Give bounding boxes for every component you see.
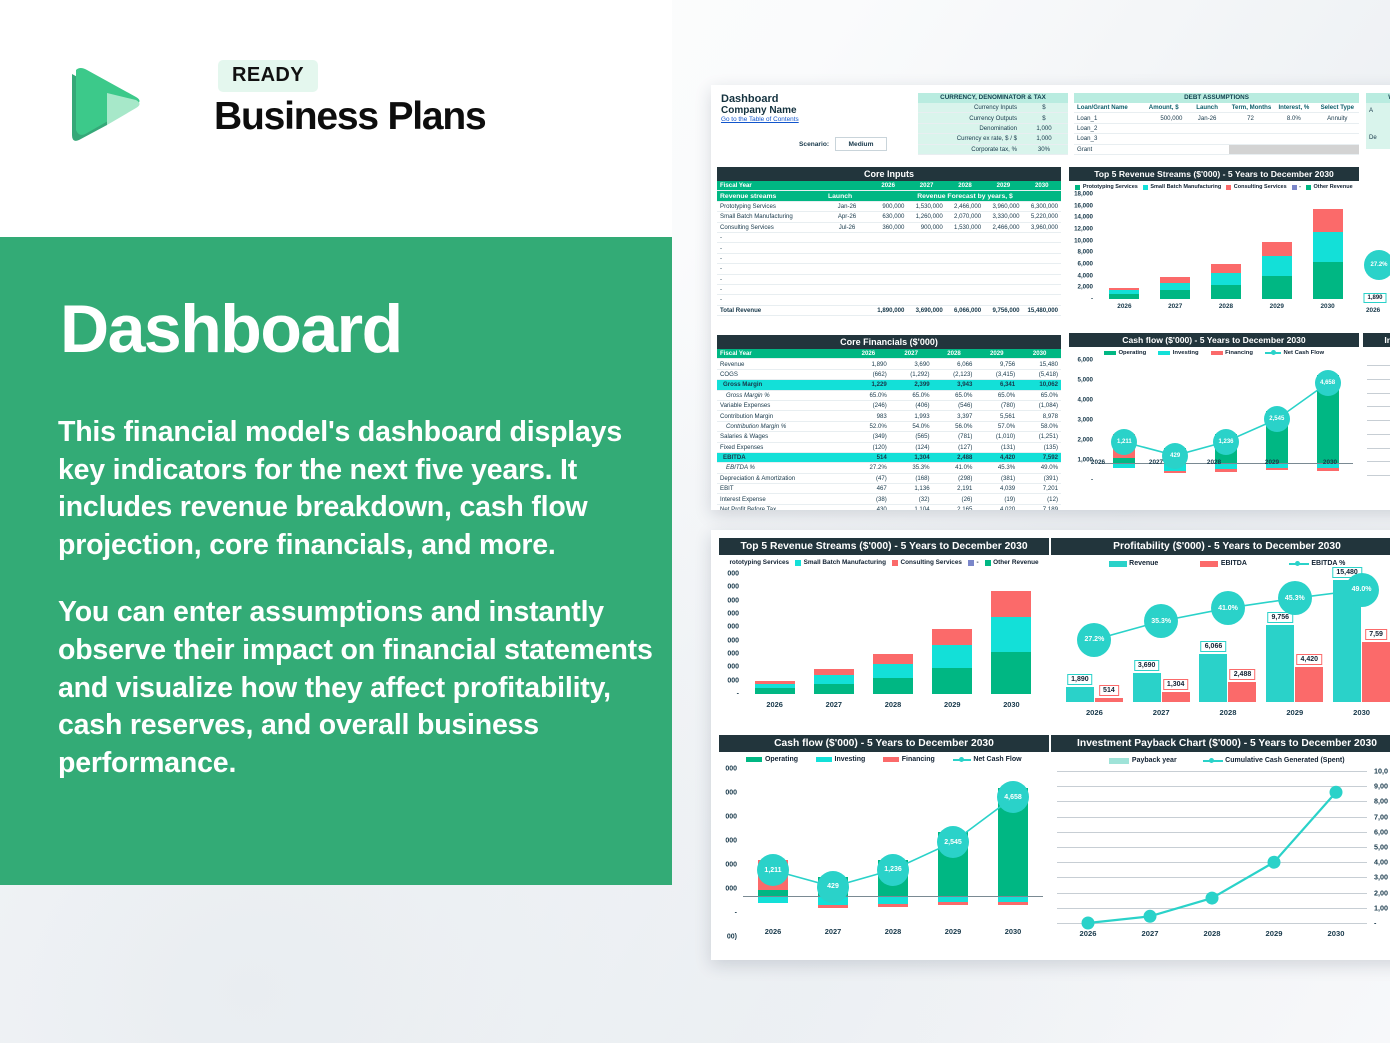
axis-tick-label: 000	[727, 624, 742, 631]
cell-value[interactable]	[869, 264, 907, 274]
cell-value[interactable]	[1023, 284, 1061, 294]
working-block-body: A De	[1366, 103, 1390, 149]
cell-launch[interactable]: Jan-26	[1185, 113, 1228, 123]
gridline	[1367, 475, 1390, 476]
legend-item: rototyping Services	[729, 559, 789, 566]
chart-revenue-streams-top[interactable]: Top 5 Revenue Streams ($'000) - 5 Years …	[1069, 167, 1359, 325]
legend-label: EBITDA %	[1311, 560, 1345, 567]
cell-stream[interactable]: -	[717, 232, 825, 242]
axis-tick-label: 2029	[1251, 303, 1302, 310]
cell-value: (1,251)	[1018, 432, 1061, 442]
chart-x-label: 2026	[1366, 307, 1380, 314]
core-financials-title: Core Financials ($'000)	[717, 335, 1061, 349]
column-header: Fiscal Year	[717, 181, 825, 191]
axis-tick-label: 000	[725, 886, 740, 893]
cell-value: 2,399	[890, 380, 933, 390]
axis-tick-label: 000	[727, 677, 742, 684]
column-header: Term, Months	[1229, 103, 1272, 113]
cell-launch[interactable]	[1185, 123, 1228, 133]
currency-table: Currency Inputs$ Currency Outputs$ Denom…	[918, 103, 1068, 155]
cell-type[interactable]	[1316, 134, 1359, 144]
cell-value[interactable]: 5,220,000	[1023, 212, 1061, 222]
bar-group[interactable]	[923, 574, 982, 694]
bar-group[interactable]	[1302, 194, 1353, 299]
cell-stream[interactable]: -	[717, 243, 825, 253]
cell-value: (19)	[975, 494, 1018, 504]
cell-value[interactable]	[984, 232, 1022, 242]
table-row: Variable Expenses(246)(406)(546)(780)(1,…	[717, 400, 1061, 410]
cell-value[interactable]	[946, 264, 984, 274]
bar-group[interactable]	[1150, 194, 1201, 299]
axis-tick-label: 18,000	[1074, 191, 1096, 198]
cell-value[interactable]	[1023, 253, 1061, 263]
cell-value: 6,341	[975, 380, 1018, 390]
cell-value[interactable]	[869, 274, 907, 284]
gridline	[1367, 379, 1390, 380]
bar-segment	[814, 675, 854, 683]
legend-label: Operating	[765, 756, 798, 763]
cell-value: 1,104	[890, 504, 933, 510]
cell-value[interactable]	[1023, 264, 1061, 274]
cell-value[interactable]	[1023, 274, 1061, 284]
legend-item: EBITDA %	[1289, 560, 1345, 567]
chart-plot-area	[1099, 194, 1353, 299]
legend-label: Other Revenue	[993, 559, 1038, 566]
bar-segment	[814, 684, 854, 694]
cell-launch[interactable]	[825, 295, 869, 305]
cell-stream[interactable]: -	[717, 264, 825, 274]
cell-value[interactable]	[907, 284, 945, 294]
cell-value[interactable]: 3,960,000	[1023, 222, 1061, 232]
cell-value[interactable]	[984, 253, 1022, 263]
cell-value[interactable]: 2,466,000	[946, 201, 984, 211]
cell-value[interactable]: 3,330,000	[984, 212, 1022, 222]
table-row: Interest Expense(38)(32)(26)(19)(12)	[717, 494, 1061, 504]
row-label: EBITDA %	[717, 463, 847, 473]
cell-value[interactable]: 630,000	[869, 212, 907, 222]
bar-group[interactable]	[982, 574, 1041, 694]
cell-value[interactable]: 1,530,000	[946, 222, 984, 232]
cell-value[interactable]	[984, 284, 1022, 294]
cell-launch[interactable]: Jan-26	[825, 201, 869, 211]
cell-value[interactable]	[907, 264, 945, 274]
cell-value: 56.0%	[933, 421, 976, 431]
currency-block-header: CURRENCY, DENOMINATOR & TAX	[918, 93, 1068, 103]
cell-label: Currency Inputs	[918, 103, 1020, 113]
chart-data-label: 1,890	[1363, 293, 1386, 303]
total-value: 15,480,000	[1023, 305, 1061, 315]
chart-data-bubble: 4,658	[1315, 370, 1341, 396]
cell-launch[interactable]: Jul-26	[825, 222, 869, 232]
cell-value[interactable]	[984, 295, 1022, 305]
gridline	[1367, 406, 1390, 407]
axis-tick-label: 2027	[1127, 459, 1185, 466]
cell-value[interactable]: 1,260,000	[907, 212, 945, 222]
axis-tick-label: 000	[727, 597, 742, 604]
cell-launch[interactable]	[1185, 144, 1228, 154]
cell-value[interactable]	[1023, 232, 1061, 242]
table-row: Loan_3	[1074, 134, 1359, 144]
cell-value: (127)	[933, 442, 976, 452]
chart-x-axis: 20262027202820292030	[743, 927, 1043, 936]
bar-group[interactable]	[1251, 194, 1302, 299]
axis-tick-label: 9,00	[1374, 782, 1390, 791]
table-of-contents-link[interactable]: Go to the Table of Contents	[721, 116, 799, 123]
table-row: EBIT4671,1362,1914,0397,201	[717, 484, 1061, 494]
cell-value[interactable]	[946, 295, 984, 305]
cell-amount[interactable]: 500,000	[1142, 113, 1185, 123]
legend-label: Financing	[902, 756, 935, 763]
cell-value: 4,420	[975, 452, 1018, 462]
legend-item: Investing	[1158, 350, 1198, 356]
cell-stream[interactable]: Prototyping Services	[717, 201, 825, 211]
chart-y-axis: 10,09,008,007,006,005,004,003,002,001,00…	[1371, 771, 1390, 923]
bar-group[interactable]	[745, 574, 804, 694]
cell-stream[interactable]: Small Batch Manufacturing	[717, 212, 825, 222]
cell-value: (2,123)	[933, 369, 976, 379]
cell-value: (120)	[847, 442, 890, 452]
axis-tick-label: 2030	[983, 927, 1043, 936]
dashboard-screenshot-bottom[interactable]: Top 5 Revenue Streams ($'000) - 5 Years …	[711, 530, 1390, 960]
bar-group[interactable]	[1201, 194, 1252, 299]
cell-type[interactable]	[1316, 123, 1359, 133]
cell-interest[interactable]	[1272, 134, 1315, 144]
table-row: -	[717, 243, 1061, 253]
total-value: 1,890,000	[869, 305, 907, 315]
cell-amount[interactable]	[1142, 134, 1185, 144]
cell-value[interactable]	[946, 232, 984, 242]
cell-value[interactable]	[869, 284, 907, 294]
chart-title: Cash flow ($'000) - 5 Years to December …	[1069, 333, 1359, 347]
chart-data-bubble: 41.0%	[1211, 591, 1245, 625]
cell-loan-name[interactable]: Loan_3	[1074, 134, 1142, 144]
cell-value: (1,292)	[890, 369, 933, 379]
axis-tick-label: 000	[727, 651, 742, 658]
axis-tick-label: 2027	[803, 927, 863, 936]
legend-item: Financing	[1211, 350, 1253, 356]
table-row: Consulting ServicesJul-26360,000900,0001…	[717, 222, 1061, 232]
cell-amount[interactable]	[1142, 123, 1185, 133]
bar-segment	[1160, 283, 1190, 290]
cell-value: (124)	[890, 442, 933, 452]
core-financials-block: Core Financials ($'000) Fiscal Year 2026…	[717, 335, 1061, 510]
cell-value: 54.0%	[890, 421, 933, 431]
cell-loan-name[interactable]: Grant	[1074, 144, 1142, 154]
chart-plot-area: 1,8905143,6901,3046,0662,4889,7564,42015…	[1061, 576, 1390, 702]
cell-label: A	[1369, 107, 1390, 114]
chart-title: Cash flow ($'000) - 5 Years to December …	[719, 735, 1049, 752]
cell-launch[interactable]: Apr-26	[825, 212, 869, 222]
chart-legend: Revenue EBITDA EBITDA %	[1051, 560, 1390, 567]
axis-tick-label: 000	[725, 790, 740, 797]
cell-value[interactable]	[1023, 295, 1061, 305]
row-label: COGS	[717, 369, 847, 379]
cell-launch[interactable]	[1185, 134, 1228, 144]
column-header-year: 2029	[975, 349, 1018, 359]
legend-label: Net Cash Flow	[1283, 350, 1324, 356]
cell-value: 41.0%	[933, 463, 976, 473]
cell-value: (381)	[975, 473, 1018, 483]
chart-investment-partial[interactable]: Inve	[1363, 333, 1390, 505]
cell-value[interactable]	[984, 264, 1022, 274]
cell-launch[interactable]	[825, 253, 869, 263]
cell-value: (135)	[1018, 442, 1061, 452]
chart-investment-payback[interactable]: Investment Payback Chart ($'000) - 5 Yea…	[1051, 735, 1390, 953]
currency-assumptions-block: CURRENCY, DENOMINATOR & TAX Currency Inp…	[918, 93, 1068, 155]
cell-stream[interactable]: -	[717, 253, 825, 263]
table-row: Corporate tax, %30%	[918, 144, 1068, 154]
cell-value: 2,488	[933, 452, 976, 462]
table-row: Fixed Expenses(120)(124)(127)(131)(135)	[717, 442, 1061, 452]
cell-value: (246)	[847, 400, 890, 410]
cell-value[interactable]: 1,530,000	[907, 201, 945, 211]
chart-y-axis: 000000000000000000000000000-	[719, 574, 742, 694]
cell-value: (168)	[890, 473, 933, 483]
legend-label: -	[976, 559, 978, 566]
chart-data-bubble: 1,236	[1213, 429, 1239, 455]
cell-value[interactable]: 900,000	[869, 201, 907, 211]
legend-item: Prototyping Services	[1075, 184, 1138, 190]
cell-value: 7,592	[1018, 452, 1061, 462]
cell-launch[interactable]	[825, 243, 869, 253]
cell-value[interactable]	[946, 284, 984, 294]
table-row: Depreciation & Amortization(47)(168)(298…	[717, 473, 1061, 483]
cell-value[interactable]	[907, 232, 945, 242]
table-row: -	[717, 264, 1061, 274]
bar-segment	[1211, 264, 1241, 273]
chart-data-point	[1082, 917, 1095, 930]
subheader-revenue-streams: Revenue streams	[717, 191, 825, 201]
axis-tick-label: 000	[727, 664, 742, 671]
cell-loan-name[interactable]: Loan_2	[1074, 123, 1142, 133]
chart-title: Top 5 Revenue Streams ($'000) - 5 Years …	[719, 538, 1049, 555]
table-row: -	[717, 232, 1061, 242]
cell-value[interactable]	[984, 243, 1022, 253]
cell-label: Currency Outputs	[918, 113, 1020, 123]
bar-segment	[1313, 232, 1343, 262]
legend-item: -	[968, 559, 979, 566]
cell-value: 4,039	[975, 484, 1018, 494]
axis-tick-label: -	[1374, 919, 1379, 928]
chart-title: Inve	[1363, 333, 1390, 347]
cell-value: 15,480	[1018, 359, 1061, 369]
row-label: EBITDA	[717, 452, 847, 462]
cell-launch[interactable]	[825, 274, 869, 284]
cell-value[interactable]	[946, 243, 984, 253]
chart-legend: Operating Investing Financing Net Cash F…	[719, 756, 1049, 763]
cell-stream[interactable]: Consulting Services	[717, 222, 825, 232]
row-label: EBIT	[717, 484, 847, 494]
axis-tick-label: 6,000	[1078, 357, 1096, 364]
chart-cashflow-top[interactable]: Cash flow ($'000) - 5 Years to December …	[1069, 333, 1359, 505]
cell-value: (546)	[933, 400, 976, 410]
cell-value[interactable]: 2,070,000	[946, 212, 984, 222]
debt-block-header: DEBT ASSUMPTIONS	[1074, 93, 1359, 103]
core-financials-table: Fiscal Year 2026 2027 2028 2029 2030 Rev…	[717, 349, 1061, 510]
axis-tick-label: 2027	[1150, 303, 1201, 310]
cell-value[interactable]	[869, 232, 907, 242]
chart-cashflow-bottom[interactable]: Cash flow ($'000) - 5 Years to December …	[719, 735, 1049, 953]
cell-value: (1,084)	[1018, 400, 1061, 410]
cell-value: 27.2%	[847, 463, 890, 473]
legend-item: Operating	[1104, 350, 1146, 356]
cell-value[interactable]	[869, 253, 907, 263]
cell-value: 3,690	[890, 359, 933, 369]
axis-tick-label: 7,00	[1374, 812, 1390, 821]
axis-tick-label: 6,000	[1078, 261, 1096, 268]
chart-legend: Prototyping Services Small Batch Manufac…	[1069, 184, 1359, 190]
table-row: Gross Margin1,2292,3993,9436,34110,062	[717, 380, 1061, 390]
axis-tick-label: 8,00	[1374, 797, 1390, 806]
cell-value[interactable]	[869, 243, 907, 253]
cell-value[interactable]	[907, 253, 945, 263]
cell-amount[interactable]	[1142, 144, 1185, 154]
chart-legend: rototyping Services Small Batch Manufact…	[719, 559, 1049, 566]
cell-stream[interactable]: -	[717, 274, 825, 284]
chart-revenue-streams-bottom[interactable]: Top 5 Revenue Streams ($'000) - 5 Years …	[719, 538, 1049, 733]
legend-item: Investing	[816, 756, 865, 763]
cell-value[interactable]	[984, 274, 1022, 284]
cell-interest	[1272, 144, 1315, 154]
cell-value: (3,415)	[975, 369, 1018, 379]
legend-item: Consulting Services	[892, 559, 962, 566]
chart-x-axis: 20262027202820292030	[1069, 459, 1359, 466]
axis-tick-label: 2030	[1305, 929, 1367, 938]
cell-value[interactable]	[1023, 243, 1061, 253]
cell-type	[1316, 144, 1359, 154]
table-row: Gross Margin %65.0%65.0%65.0%65.0%65.0%	[717, 390, 1061, 400]
cell-stream[interactable]: -	[717, 284, 825, 294]
row-label: Revenue	[717, 359, 847, 369]
legend-label: Investing	[835, 756, 866, 763]
legend-item: Payback year	[1109, 757, 1176, 764]
cell-interest[interactable]: 8.0%	[1272, 113, 1315, 123]
column-header: Select Type	[1316, 103, 1359, 113]
bar-group[interactable]	[863, 574, 922, 694]
cell-launch[interactable]	[825, 264, 869, 274]
axis-tick-label: 2028	[863, 700, 922, 709]
debt-table: Loan/Grant Name Amount, $ Launch Term, M…	[1074, 103, 1359, 155]
scenario-select[interactable]: Medium	[835, 137, 887, 151]
hero-paragraph-2: You can enter assumptions and instantly …	[58, 594, 654, 782]
cell-value: (298)	[933, 473, 976, 483]
hero-paragraph-1: This financial model's dashboard display…	[58, 414, 654, 564]
cell-value: 65.0%	[847, 390, 890, 400]
cell-value: 1,890	[847, 359, 890, 369]
cell-type[interactable]: Annuity	[1316, 113, 1359, 123]
table-row: Currency ex rate, $ / $1,000	[918, 134, 1068, 144]
chart-profitability[interactable]: Profitability ($'000) - 5 Years to Decem…	[1051, 538, 1390, 733]
dashboard-screenshot-top[interactable]: Dashboard Company Name Go to the Table o…	[711, 85, 1390, 510]
legend-label: Investing	[1173, 350, 1199, 356]
sheet-title-text: Dashboard	[721, 93, 799, 105]
chart-y-axis: 000000000000000000-00)	[719, 769, 740, 937]
column-header: Loan/Grant Name	[1074, 103, 1142, 113]
cell-value[interactable]	[946, 253, 984, 263]
cell-value: 430	[847, 504, 890, 510]
gridline	[1367, 448, 1390, 449]
cell-value[interactable]: 30%	[1020, 144, 1068, 154]
axis-tick-label: 10,000	[1074, 237, 1096, 244]
legend-label: Small Batch Manufacturing	[804, 559, 886, 566]
cell-value[interactable]: 360,000	[869, 222, 907, 232]
legend-item: Consulting Services	[1226, 184, 1286, 190]
cell-launch[interactable]	[825, 232, 869, 242]
cell-value: (5,418)	[1018, 369, 1061, 379]
cell-value: 2,191	[933, 484, 976, 494]
cell-value: (131)	[975, 442, 1018, 452]
column-header-year: 2028	[933, 349, 976, 359]
cell-value[interactable]: 3,960,000	[984, 201, 1022, 211]
cell-term[interactable]	[1229, 134, 1272, 144]
bar-group[interactable]	[1099, 194, 1150, 299]
total-label: Total Revenue	[717, 305, 825, 315]
core-inputs-title: Core Inputs	[717, 167, 1061, 181]
bar-segment	[932, 645, 972, 667]
cell-value[interactable]: 1,000	[1020, 134, 1068, 144]
axis-tick-label: 2,000	[1078, 284, 1096, 291]
bar-segment	[932, 629, 972, 645]
cell-loan-name[interactable]: Loan_1	[1074, 113, 1142, 123]
legend-item: Operating	[746, 756, 798, 763]
cell-value[interactable]	[946, 274, 984, 284]
bar-segment	[873, 654, 913, 664]
legend-item: Revenue	[1109, 560, 1159, 567]
legend-label: Other Revenue	[1314, 184, 1353, 190]
column-header: Launch	[1185, 103, 1228, 113]
axis-tick-label: 2027	[1119, 929, 1181, 938]
axis-tick-label: 16,000	[1074, 202, 1096, 209]
axis-tick-label: 2026	[745, 700, 804, 709]
chart-data-bubble: 2,545	[937, 826, 969, 858]
table-row: -	[717, 295, 1061, 305]
cell-interest[interactable]	[1272, 123, 1315, 133]
column-header-year: 2029	[984, 181, 1022, 191]
cell-value[interactable]: 900,000	[907, 222, 945, 232]
axis-tick-label: 2030	[1328, 708, 1390, 717]
cell-value[interactable]	[907, 274, 945, 284]
table-row: EBITDA %27.2%35.3%41.0%45.3%49.0%	[717, 463, 1061, 473]
cell-value[interactable]	[907, 295, 945, 305]
cell-value[interactable]: $	[1020, 103, 1068, 113]
cell-value[interactable]: $	[1020, 113, 1068, 123]
cell-launch[interactable]	[825, 284, 869, 294]
chart-data-bubble: 35.3%	[1144, 604, 1178, 638]
chart-plot-area	[1057, 771, 1367, 923]
cell-term[interactable]: 72	[1229, 113, 1272, 123]
row-label: Gross Margin	[717, 380, 847, 390]
bar-segment	[1211, 285, 1241, 299]
bar-group[interactable]	[804, 574, 863, 694]
cell-stream[interactable]: -	[717, 295, 825, 305]
cell-value[interactable]: 6,300,000	[1023, 201, 1061, 211]
cell-value: (26)	[933, 494, 976, 504]
row-label: Net Profit Before Tax	[717, 504, 847, 510]
axis-tick-label: 2029	[1261, 708, 1328, 717]
bar-segment	[1109, 294, 1139, 299]
table-row: COGS(662)(1,292)(2,123)(3,415)(5,418)	[717, 369, 1061, 379]
legend-label: Payback year	[1132, 757, 1177, 764]
cell-value[interactable]	[907, 243, 945, 253]
cell-value: 8,978	[1018, 411, 1061, 421]
axis-tick-label: 5,00	[1374, 843, 1390, 852]
cell-term[interactable]	[1229, 123, 1272, 133]
working-block-header: WOR	[1366, 93, 1390, 103]
cell-value[interactable]	[869, 295, 907, 305]
cell-value[interactable]: 1,000	[1020, 123, 1068, 133]
cell-value[interactable]: 2,466,000	[984, 222, 1022, 232]
axis-tick-label: 4,000	[1078, 272, 1096, 279]
